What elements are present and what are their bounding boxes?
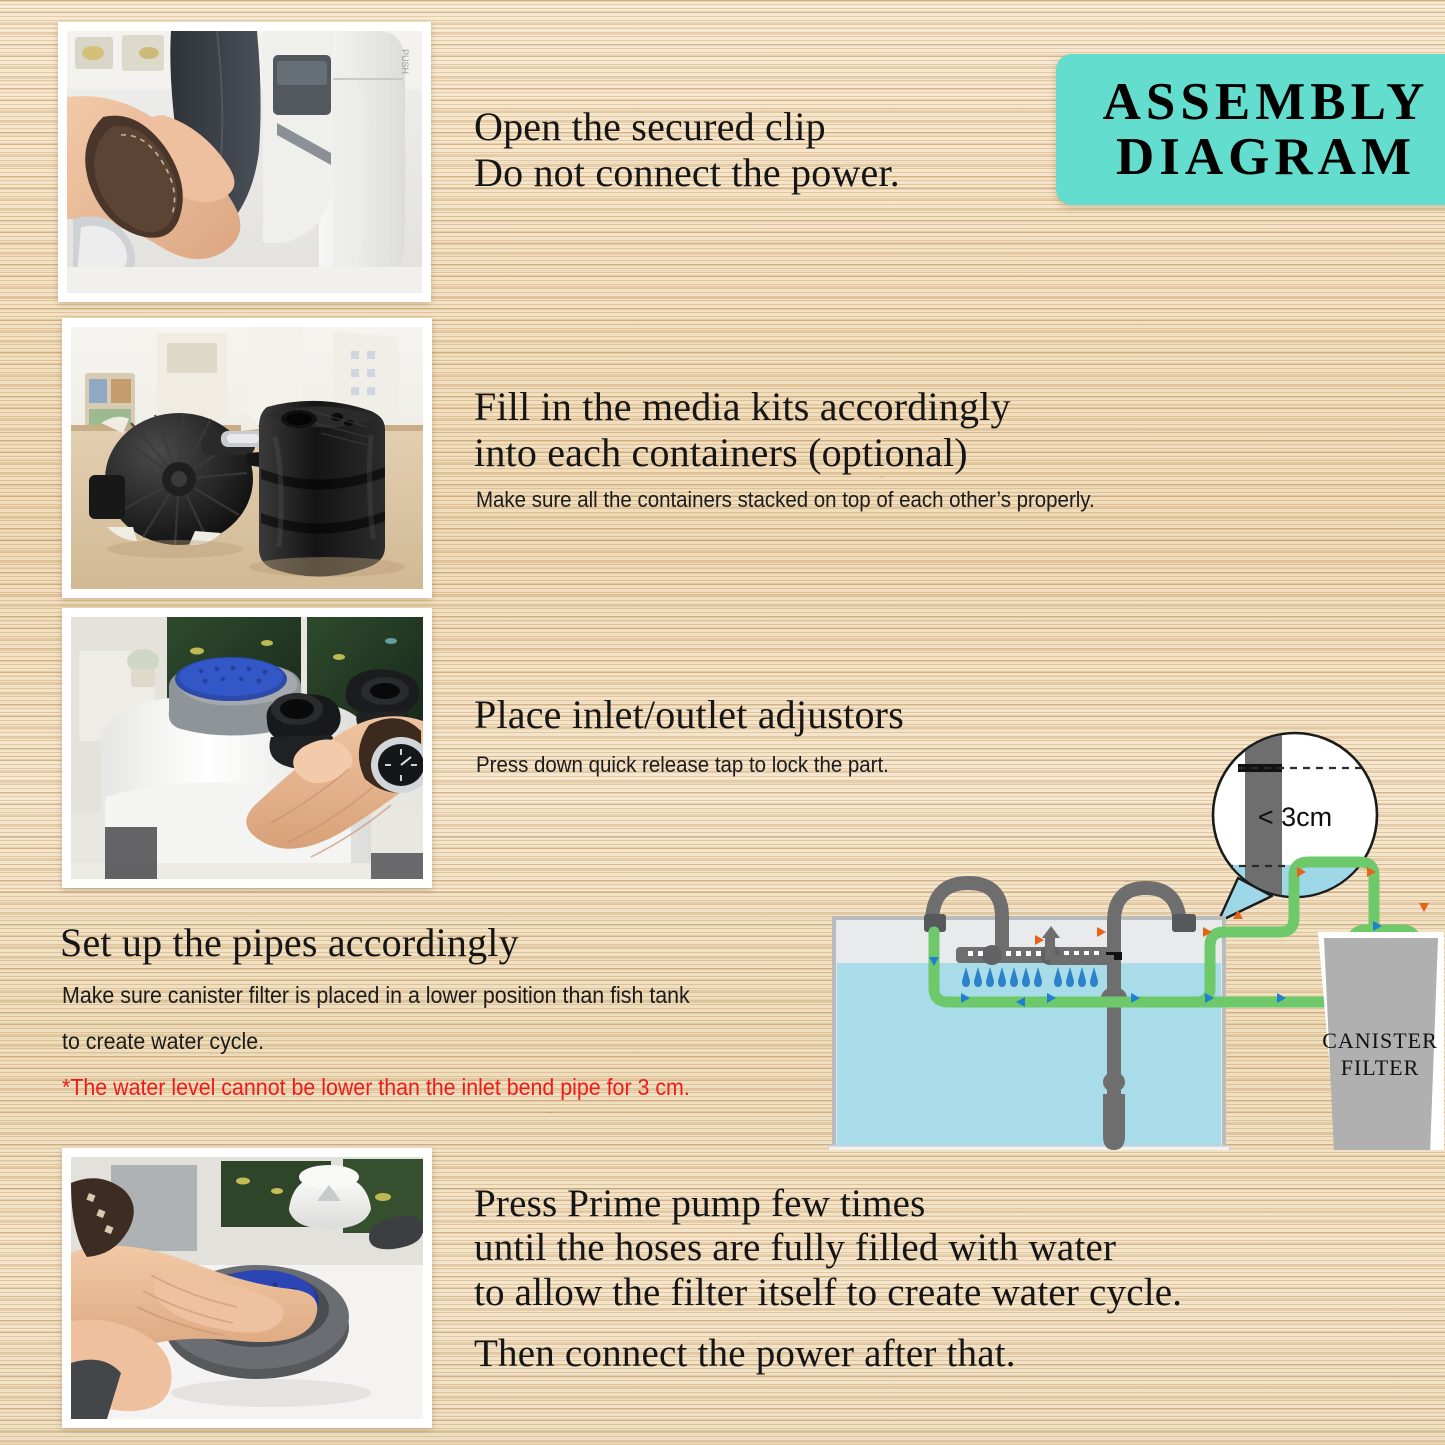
step-4-headline: Set up the pipes accordingly (60, 920, 519, 966)
canister-label-line-2: FILTER (1341, 1055, 1420, 1080)
callout-label: < 3cm (1258, 802, 1332, 832)
step-1-headline: Open the secured clip Do not connect the… (474, 104, 900, 195)
canister-label-line-1: CANISTER (1322, 1028, 1438, 1053)
step-5-headline-line-1: Press Prime pump few times (474, 1182, 1182, 1226)
step-1-headline-line-1: Open the secured clip (474, 104, 900, 150)
step-2-headline: Fill in the media kits accordingly into … (474, 384, 1011, 475)
assembly-diagram-badge: ASSEMBLY DIAGRAM (1056, 54, 1445, 205)
step-2-subtext: Make sure all the containers stacked on … (476, 487, 1095, 513)
badge-line-1: ASSEMBLY (1103, 75, 1430, 130)
photo-place-adjustors (62, 608, 432, 888)
badge-line-2: DIAGRAM (1116, 130, 1416, 185)
photo-prime-pump-image (71, 1157, 423, 1419)
photo-media-containers-image (71, 327, 423, 589)
step-4-subtext-line-1: Make sure canister filter is placed in a… (62, 982, 690, 1009)
step-1-headline-line-2: Do not connect the power. (474, 150, 900, 196)
photo-place-adjustors-image (71, 617, 423, 879)
photo-open-clip: PUSH (58, 22, 431, 302)
step-2-headline-line-1: Fill in the media kits accordingly (474, 384, 1011, 430)
photo-media-containers (62, 318, 432, 598)
photo-prime-pump (62, 1148, 432, 1428)
step-5-headline-line-4: Then connect the power after that. (474, 1332, 1016, 1376)
canister-filter: CANISTER FILTER (1318, 932, 1444, 1150)
step-5-headline-line-3: to allow the filter itself to create wat… (474, 1271, 1182, 1315)
step-5-headline: Press Prime pump few times until the hos… (474, 1182, 1182, 1315)
step-5-headline-line-2: until the hoses are fully filled with wa… (474, 1226, 1182, 1270)
photo-open-clip-image: PUSH (67, 31, 422, 293)
step-4-warning: *The water level cannot be lower than th… (62, 1074, 690, 1101)
step-4-subtext-line-2: to create water cycle. (62, 1028, 264, 1055)
svg-text:PUSH: PUSH (400, 49, 410, 74)
step-2-headline-line-2: into each containers (optional) (474, 430, 1011, 476)
aquarium-diagram: < 3cm (820, 650, 1445, 1150)
